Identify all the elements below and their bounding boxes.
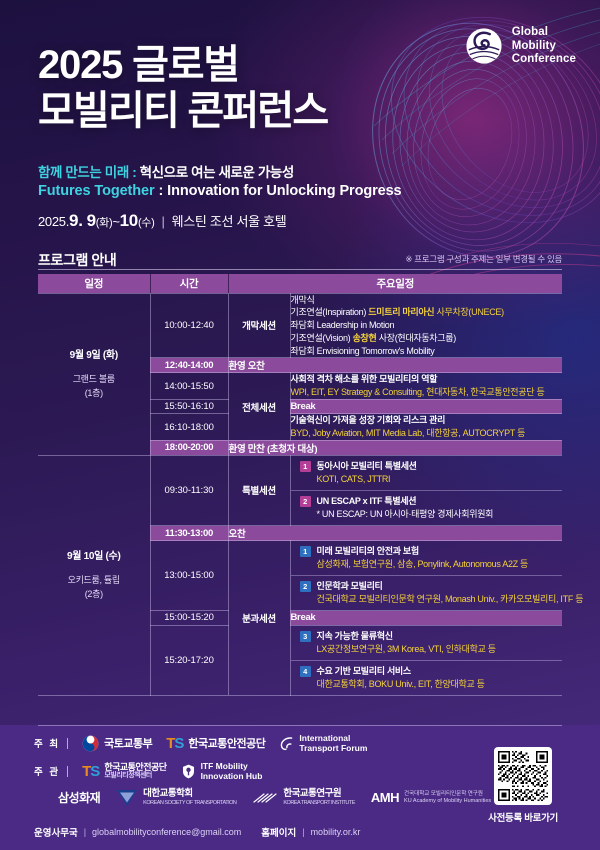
- brand-logo-line1: Global: [512, 26, 576, 40]
- registration-qr-block[interactable]: 사전등록 바로가기: [488, 747, 558, 824]
- subsession: 2 UN ESCAP x ITF 특별세션 * UN ESCAP: UN 아시아…: [291, 490, 563, 525]
- ts-logo-icon: TS: [82, 763, 99, 780]
- row9-label: Break: [290, 611, 562, 625]
- logo-ts-organizer: TS 한국교통안전공단 모빌리티정책센터: [82, 762, 166, 780]
- subsession-number-badge: 2: [300, 581, 311, 592]
- day2-location-line1: 오키드룸, 튤립: [38, 574, 150, 588]
- brand-logo: Global Mobility Conference: [465, 26, 576, 67]
- row4-title: 기술혁신이 가져올 성장 기회와 리스크 관리: [291, 414, 563, 427]
- organizer-label: 주 관: [34, 764, 68, 778]
- date-year: 2025.: [38, 214, 69, 229]
- koti-logo-icon: [252, 792, 278, 804]
- poster-title: 2025 글로벌 모빌리티 콘퍼런스: [38, 44, 327, 134]
- office-email[interactable]: globalmobilityconference@gmail.com: [92, 827, 241, 837]
- subsession-text: 수요 기반 모빌리티 서비스 대한교통학회, BOKU Univ., EIT, …: [317, 665, 485, 691]
- row0-line1-post: 사무차장(UNECE): [434, 307, 504, 317]
- row0-line3: 기조연설(Vision) 송창현 사장(현대자동차그룹): [291, 332, 563, 345]
- row6-time: 09:30-11:30: [150, 455, 228, 525]
- date-day-end: 10: [120, 211, 138, 231]
- date-month: 9.: [69, 211, 83, 231]
- row0-line4: 좌담회 Envisioning Tomorrow's Mobility: [291, 345, 563, 358]
- brand-logo-text: Global Mobility Conference: [512, 26, 576, 67]
- row8-program: 1 미래 모빌리티의 안전과 보험 삼성화재, 보험연구원, 삼송, Ponyl…: [290, 541, 562, 611]
- logo-koti-name: 한국교통연구원: [283, 789, 355, 800]
- row1-time: 12:40-14:00: [150, 358, 228, 373]
- sponsor-row: 삼성화재 대한교통학회 KOREAN SOCIETY OF TRANSPORTA…: [58, 788, 491, 807]
- row2-session: 전체세션: [228, 373, 290, 441]
- logo-ts-organizer-label: 한국교통안전공단 모빌리티정책센터: [104, 762, 166, 780]
- subsession-orgs: 대한교통학회, BOKU Univ., EIT, 한양대학교 등: [317, 678, 485, 691]
- subsession: 1 동아시아 모빌리티 특별세션 KOTI, CATS, JTTRI: [291, 456, 563, 490]
- day2-location-line2: (2층): [38, 588, 150, 602]
- logo-kst: 대한교통학회 KOREAN SOCIETY OF TRANSPORTATION: [116, 788, 236, 807]
- subsession-number-badge: 2: [300, 496, 311, 507]
- subsession-number-badge: 4: [300, 666, 311, 677]
- logo-koti: 한국교통연구원 KOREA TRANSPORT INSTITUTE: [252, 789, 355, 806]
- subsession-text: 미래 모빌리티의 안전과 보험 삼성화재, 보험연구원, 삼송, Ponylin…: [317, 545, 529, 571]
- row4-program: 기술혁신이 가져올 성장 기회와 리스크 관리 BYD, Joby Aviati…: [290, 414, 562, 441]
- logo-itf-hub-line2: Innovation Hub: [201, 771, 263, 781]
- logo-amh-mark: AMH: [371, 790, 399, 805]
- logo-samsung-fire-label: 삼성화재: [58, 789, 100, 806]
- row4-time: 16:10-18:00: [150, 414, 228, 441]
- row2-orgs: WPI, EIT, EY Strategy & Consulting, 현대자동…: [291, 386, 563, 399]
- date-day-end-dow: (수): [138, 214, 155, 230]
- logo-ts-host-label: 한국교통안전공단: [188, 735, 265, 751]
- logo-amh: AMH 건국대학교 모빌리티인문학 연구원 KU Academy of Mobi…: [371, 790, 491, 805]
- contact-divider-2: |: [302, 827, 304, 837]
- logo-itf: International Transport Forum: [279, 733, 367, 753]
- logo-itf-label: International Transport Forum: [299, 733, 367, 753]
- qr-code[interactable]: [494, 747, 552, 805]
- subsession-text: 인문학과 모빌리티 건국대학교 모빌리티인문학 연구원, Monash Univ…: [317, 580, 584, 606]
- row0-line1: 기조연설(Inspiration) 드미트리 마리아신 사무차장(UNECE): [291, 306, 563, 319]
- row0-program: 개막식 기조연설(Inspiration) 드미트리 마리아신 사무차장(UNE…: [290, 293, 562, 358]
- qr-caption: 사전등록 바로가기: [488, 810, 558, 824]
- subsession-orgs: 삼성화재, 보험연구원, 삼송, Ponylink, Autonomous A2…: [317, 558, 529, 571]
- globe-swirl-icon: [465, 27, 503, 65]
- column-header-time: 시간: [150, 274, 228, 293]
- subtitle-english-accent: Futures Together: [38, 183, 155, 199]
- program-table-wrapper: 일정 시간 주요일정 9월 9일 (화) 그랜드 볼룸 (1층) 10:00-1…: [38, 274, 562, 696]
- logo-ts-org-line1: 한국교통안전공단: [104, 762, 166, 772]
- day1-date: 9월 9일 (화): [38, 348, 150, 363]
- table-header-row: 일정 시간 주요일정: [38, 274, 562, 293]
- subsession-text: UN ESCAP x ITF 특별세션 * UN ESCAP: UN 아시아·태…: [317, 495, 494, 521]
- contact-bar: 운영사무국 | globalmobilityconference@gmail.c…: [34, 825, 360, 839]
- logo-molit: 국토교통부: [82, 735, 152, 752]
- program-change-note: ※ 프로그램 구성과 주제는 일부 변경될 수 있음: [405, 253, 562, 265]
- date-venue-divider: |: [161, 214, 164, 229]
- row0-line1-pre: 기조연설(Inspiration): [291, 307, 369, 317]
- logo-itf-hub-label: ITF Mobility Innovation Hub: [201, 761, 263, 781]
- day1-cell: 9월 9일 (화) 그랜드 볼룸 (1층): [38, 293, 150, 455]
- date-range-separator: ~: [112, 214, 119, 229]
- subtitle-korean: 함께 만드는 미래 : 혁신으로 여는 새로운 가능성: [38, 161, 294, 181]
- host-row: 주 최 국토교통부 TS 한국교통안전공단 Intern: [34, 733, 367, 753]
- logo-itf-line2: Transport Forum: [299, 743, 367, 753]
- subsession-orgs: * UN ESCAP: UN 아시아·태평양 경제사회위원회: [317, 508, 494, 521]
- row2-program: 사회적 격차 해소를 위한 모빌리티의 역할 WPI, EIT, EY Stra…: [290, 373, 562, 400]
- logo-itf-hub: ITF Mobility Innovation Hub: [181, 761, 263, 781]
- program-heading-underline: [38, 269, 562, 270]
- row6-program: 1 동아시아 모빌리티 특별세션 KOTI, CATS, JTTRI 2 UN …: [290, 455, 562, 525]
- row0-time: 10:00-12:40: [150, 293, 228, 358]
- logo-kst-label: 대한교통학회 KOREAN SOCIETY OF TRANSPORTATION: [143, 789, 236, 806]
- logo-koti-label: 한국교통연구원 KOREA TRANSPORT INSTITUTE: [283, 789, 355, 806]
- program-table: 일정 시간 주요일정 9월 9일 (화) 그랜드 볼룸 (1층) 10:00-1…: [38, 274, 562, 696]
- subtitle-english: Futures Together : Innovation for Unlock…: [38, 183, 402, 199]
- subsession-orgs: KOTI, CATS, JTTRI: [317, 473, 417, 486]
- brand-logo-line3: Conference: [512, 53, 576, 67]
- row2-time: 14:00-15:50: [150, 373, 228, 400]
- subsession-orgs: 건국대학교 모빌리티인문학 연구원, Monash Univ., 카카오모빌리티…: [317, 593, 584, 606]
- subsession-number-badge: 3: [300, 631, 311, 642]
- row7-time: 11:30-13:00: [150, 526, 228, 541]
- itf-shield-icon: [181, 764, 196, 779]
- row5-time: 18:00-20:00: [150, 440, 228, 455]
- subsession-orgs: LX공간정보연구원, 3M Korea, VTI, 인하대학교 등: [317, 643, 496, 656]
- row10-program: 3 지속 가능한 물류혁신 LX공간정보연구원, 3M Korea, VTI, …: [290, 625, 562, 695]
- date-day-start-dow: (화): [96, 214, 113, 230]
- day2-cell: 9월 10일 (수) 오키드룸, 튤립 (2층): [38, 455, 150, 695]
- kst-logo-icon: [116, 788, 138, 807]
- row3-time: 15:50-16:10: [150, 399, 228, 413]
- subsession: 1 미래 모빌리티의 안전과 보험 삼성화재, 보험연구원, 삼송, Ponyl…: [291, 541, 563, 575]
- taegeuk-icon: [82, 735, 99, 752]
- logo-itf-line1: International: [299, 733, 367, 743]
- footer-divider: [38, 725, 562, 726]
- row8-time: 13:00-15:00: [150, 541, 228, 611]
- row7-label: 오찬: [228, 526, 562, 541]
- logo-kst-name: 대한교통학회: [143, 789, 236, 800]
- row4-orgs: BYD, Joby Aviation, MIT Media Lab, 대한항공,…: [291, 427, 563, 440]
- subsession-number-badge: 1: [300, 546, 311, 557]
- logo-samsung-fire: 삼성화재: [58, 789, 100, 806]
- subsession-text: 동아시아 모빌리티 특별세션 KOTI, CATS, JTTRI: [317, 460, 417, 486]
- row1-label: 환영 오찬: [228, 358, 562, 373]
- row5-label: 환영 만찬 (초청자 대상): [228, 440, 562, 455]
- program-heading: 프로그램 안내: [38, 250, 116, 270]
- subsession-title: 미래 모빌리티의 안전과 보험: [317, 545, 529, 558]
- subsession-title: 지속 가능한 물류혁신: [317, 630, 496, 643]
- office-label: 운영사무국: [34, 825, 78, 839]
- logo-molit-label: 국토교통부: [104, 735, 152, 751]
- title-line-2: 모빌리티 콘퍼런스: [38, 89, 327, 134]
- homepage-url[interactable]: mobility.or.kr: [311, 827, 361, 837]
- logo-amh-label: 건국대학교 모빌리티인문학 연구원 KU Academy of Mobility…: [404, 791, 491, 804]
- itf-logo-icon: [279, 736, 294, 751]
- host-label: 주 최: [34, 736, 68, 750]
- venue-name: 웨스틴 조선 서울 호텔: [172, 211, 287, 230]
- day1-location-line2: (1층): [38, 387, 150, 401]
- day2-date: 9월 10일 (수): [38, 549, 150, 564]
- row2-title: 사회적 격차 해소를 위한 모빌리티의 역할: [291, 373, 563, 386]
- table-row: 9월 9일 (화) 그랜드 볼룸 (1층) 10:00-12:40 개막세션 개…: [38, 293, 562, 358]
- row0-line2: 좌담회 Leadership in Motion: [291, 319, 563, 332]
- row6-session: 특별세션: [228, 455, 290, 525]
- date-venue-bar: 2025. 9. 9 (화) ~ 10 (수) | 웨스틴 조선 서울 호텔: [38, 211, 286, 231]
- logo-ts-host: TS 한국교통안전공단: [166, 735, 265, 752]
- logo-itf-hub-line1: ITF Mobility: [201, 761, 263, 771]
- row0-line3-post: 사장(현대자동차그룹): [377, 333, 456, 343]
- column-header-schedule: 일정: [38, 274, 150, 293]
- brand-logo-line2: Mobility: [512, 40, 576, 54]
- day1-location-line1: 그랜드 볼룸: [38, 373, 150, 387]
- organizer-row: 주 관 TS 한국교통안전공단 모빌리티정책센터 ITF Mobility In…: [34, 761, 262, 781]
- row0-session: 개막세션: [228, 293, 290, 358]
- qr-code-icon: [498, 751, 548, 801]
- column-header-program: 주요일정: [228, 274, 562, 293]
- subsession-text: 지속 가능한 물류혁신 LX공간정보연구원, 3M Korea, VTI, 인하…: [317, 630, 496, 656]
- row8-session: 분과세션: [228, 541, 290, 696]
- row0-line3-pre: 기조연설(Vision): [291, 333, 353, 343]
- subsession: 2 인문학과 모빌리티 건국대학교 모빌리티인문학 연구원, Monash Un…: [291, 575, 563, 610]
- subtitle-english-rest: : Innovation for Unlocking Progress: [155, 183, 402, 199]
- subsession-title: UN ESCAP x ITF 특별세션: [317, 495, 494, 508]
- row10-time: 15:20-17:20: [150, 625, 228, 695]
- logo-koti-sub: KOREA TRANSPORT INSTITUTE: [283, 800, 355, 806]
- title-line-1: 2025 글로벌: [38, 44, 327, 87]
- ts-logo-icon: TS: [166, 735, 183, 752]
- subtitle-korean-accent: 함께 만드는 미래 :: [38, 165, 140, 180]
- row0-line3-speaker: 송창현: [353, 333, 377, 343]
- row0-line1-speaker: 드미트리 마리아신: [368, 307, 434, 317]
- date-day-start: 9: [87, 211, 96, 231]
- logo-kst-sub: KOREAN SOCIETY OF TRANSPORTATION: [143, 800, 236, 806]
- subsession: 3 지속 가능한 물류혁신 LX공간정보연구원, 3M Korea, VTI, …: [291, 626, 563, 660]
- conference-poster: Global Mobility Conference 2025 글로벌 모빌리티…: [0, 0, 600, 850]
- row0-line0: 개막식: [291, 294, 563, 307]
- row3-label: Break: [290, 399, 562, 413]
- logo-ts-org-line2: 모빌리티정책센터: [104, 772, 166, 780]
- logo-amh-line2: KU Academy of Mobility Humanities: [404, 798, 491, 804]
- subtitle-korean-rest: 혁신으로 여는 새로운 가능성: [140, 165, 294, 180]
- logo-amh-line1: 건국대학교 모빌리티인문학 연구원: [404, 791, 491, 797]
- row9-time: 15:00-15:20: [150, 611, 228, 625]
- homepage-label: 홈페이지: [261, 825, 296, 839]
- subsession-title: 수요 기반 모빌리티 서비스: [317, 665, 485, 678]
- subsession-title: 인문학과 모빌리티: [317, 580, 584, 593]
- table-row: 9월 10일 (수) 오키드룸, 튤립 (2층) 09:30-11:30 특별세…: [38, 455, 562, 525]
- subsession-title: 동아시아 모빌리티 특별세션: [317, 460, 417, 473]
- subsession-number-badge: 1: [300, 461, 311, 472]
- subsession: 4 수요 기반 모빌리티 서비스 대한교통학회, BOKU Univ., EIT…: [291, 660, 563, 695]
- contact-divider-1: |: [84, 827, 86, 837]
